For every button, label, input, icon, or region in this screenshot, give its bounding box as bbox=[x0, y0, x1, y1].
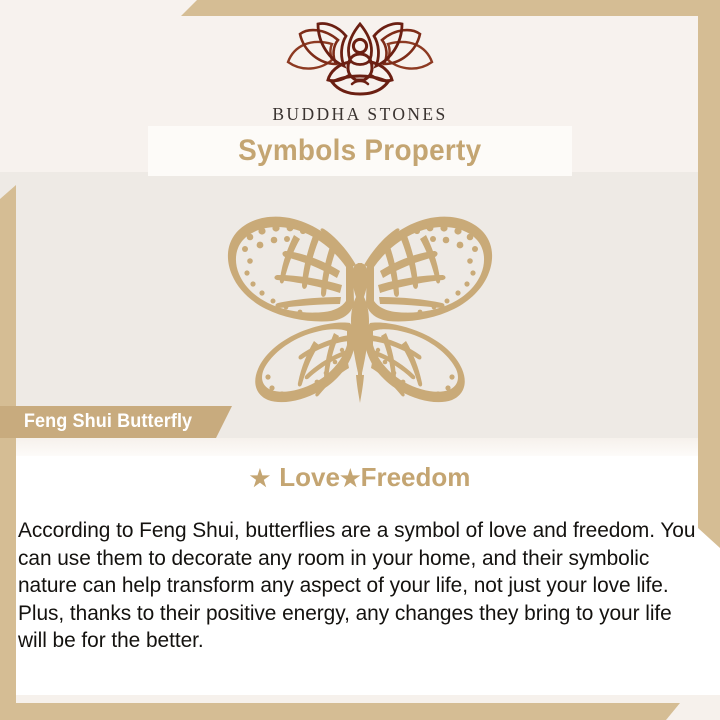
brand-name: BUDDHA STONES bbox=[0, 104, 720, 125]
frame-accent-top bbox=[181, 0, 720, 16]
lotus-meditation-icon bbox=[280, 22, 440, 100]
feng-shui-butterfly-tag: Feng Shui Butterfly bbox=[0, 406, 232, 438]
star-icon-middle: ★ bbox=[340, 465, 361, 491]
title-band: Symbols Property bbox=[148, 126, 572, 176]
tag-label: Feng Shui Butterfly bbox=[5, 411, 192, 433]
frame-accent-bottom bbox=[0, 703, 680, 720]
butterfly-icon bbox=[190, 205, 530, 405]
body-paragraph: According to Feng Shui, butterflies are … bbox=[18, 517, 696, 655]
background-band-fade bbox=[0, 438, 720, 456]
infographic-page: BUDDHA STONES Symbols Property bbox=[0, 0, 720, 720]
heading-word-freedom: Freedom bbox=[361, 462, 471, 492]
brand-block: BUDDHA STONES bbox=[0, 22, 720, 125]
butterfly-illustration bbox=[0, 205, 720, 410]
page-title: Symbols Property bbox=[238, 134, 481, 168]
heading-word-love: Love bbox=[279, 462, 340, 492]
section-heading: ★Love★Freedom bbox=[0, 462, 720, 493]
star-icon-left: ★ bbox=[250, 465, 271, 491]
